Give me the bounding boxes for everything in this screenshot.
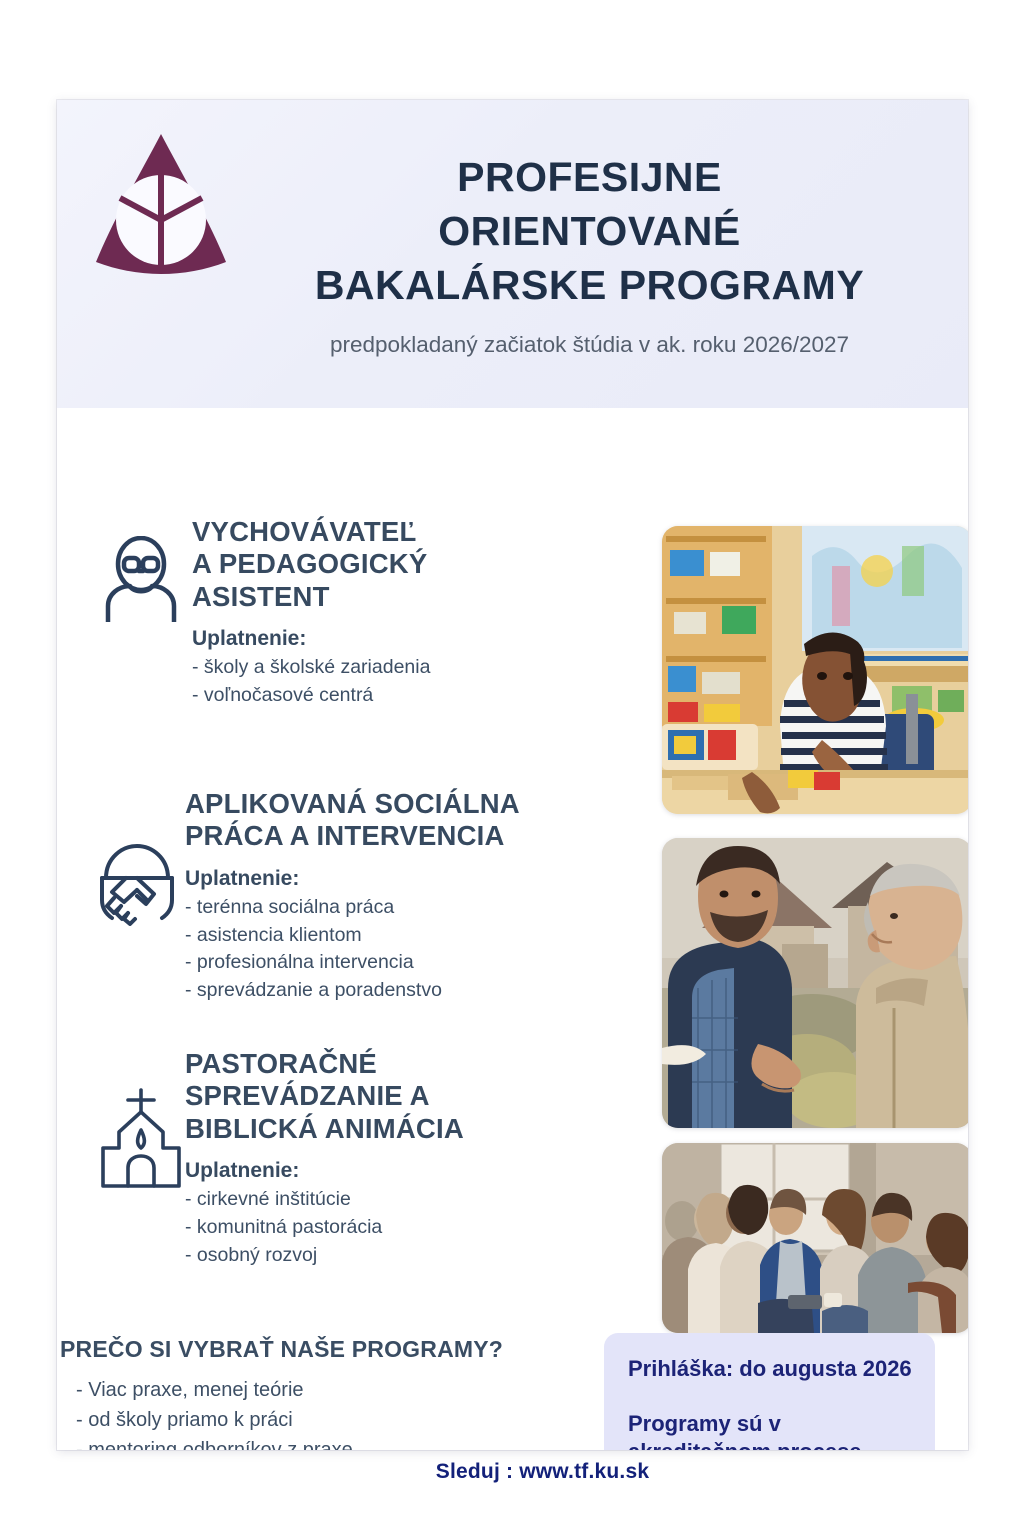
poster-card: PROFESIJNE ORIENTOVANÉ BAKALÁRSKE PROGRA… <box>57 100 968 1450</box>
list-item: - voľnočasové centrá <box>192 682 592 710</box>
title-line-3: BAKALÁRSKE PROGRAMY <box>227 258 952 312</box>
list-item: - komunitná pastorácia <box>185 1214 605 1242</box>
list-item: - mentoring odborníkov z praxe <box>76 1435 600 1450</box>
title-line-2: ORIENTOVANÉ <box>227 204 952 258</box>
tf-ku-leaf-logo <box>86 126 236 286</box>
list-item: - od školy priamo k práci <box>76 1405 600 1435</box>
handshake-icon <box>92 840 182 926</box>
list-item: - profesionálna intervencia <box>185 949 605 977</box>
person-with-glasses-icon <box>102 536 180 622</box>
church-icon <box>95 1086 187 1190</box>
application-deadline: Prihláška: do augusta 2026 <box>628 1355 911 1384</box>
list-item: - terénna sociálna práca <box>185 894 605 922</box>
poster-body: VYCHOVÁVATEĽ A PEDAGOGICKÝ ASISTENT Upla… <box>57 408 968 1450</box>
why-choose-block: PREČO SI VYBRAŤ NAŠE PROGRAMY? - Viac pr… <box>60 1336 600 1450</box>
accreditation-note: Programy sú v akreditačnom procese. <box>628 1410 911 1450</box>
uplatnenie-label: Uplatnenie: <box>185 867 605 891</box>
poster-footer: Sleduj : www.tf.ku.sk <box>57 1460 968 1484</box>
list-item: - školy a školské zariadenia <box>192 654 592 682</box>
list-item: - Viac praxe, menej teórie <box>76 1375 600 1405</box>
uplatnenie-list: - školy a školské zariadenia - voľnočaso… <box>192 654 592 709</box>
photo-child-classroom <box>662 526 968 814</box>
uplatnenie-list: - terénna sociálna práca - asistencia kl… <box>185 894 605 1005</box>
application-info-box: Prihláška: do augusta 2026 Programy sú v… <box>604 1333 935 1450</box>
website-link[interactable]: Sleduj : www.tf.ku.sk <box>436 1460 649 1484</box>
program-title: PASTORAČNÉ SPREVÁDZANIE A BIBLICKÁ ANIMÁ… <box>185 1048 605 1145</box>
uplatnenie-label: Uplatnenie: <box>185 1159 605 1183</box>
why-choose-list: - Viac praxe, menej teórie - od školy pr… <box>60 1375 600 1450</box>
list-item: - cirkevné inštitúcie <box>185 1186 605 1214</box>
photo-group-circle <box>662 1143 968 1333</box>
poster-title-block: PROFESIJNE ORIENTOVANÉ BAKALÁRSKE PROGRA… <box>227 150 952 358</box>
poster-header: PROFESIJNE ORIENTOVANÉ BAKALÁRSKE PROGRA… <box>57 100 968 408</box>
program-text-socialna-praca: APLIKOVANÁ SOCIÁLNA PRÁCA A INTERVENCIA … <box>185 788 605 1005</box>
list-item: - sprevádzanie a poradenstvo <box>185 977 605 1005</box>
list-item: - osobný rozvoj <box>185 1242 605 1270</box>
poster-subtitle: predpokladaný začiatok štúdia v ak. roku… <box>227 332 952 358</box>
title-line-1: PROFESIJNE <box>227 150 952 204</box>
why-choose-title: PREČO SI VYBRAŤ NAŠE PROGRAMY? <box>60 1336 600 1363</box>
uplatnenie-list: - cirkevné inštitúcie - komunitná pastor… <box>185 1186 605 1269</box>
list-item: - asistencia klientom <box>185 922 605 950</box>
program-title: APLIKOVANÁ SOCIÁLNA PRÁCA A INTERVENCIA <box>185 788 605 853</box>
photo-social-worker-senior <box>662 838 968 1128</box>
uplatnenie-label: Uplatnenie: <box>192 627 592 651</box>
program-text-pastoracne: PASTORAČNÉ SPREVÁDZANIE A BIBLICKÁ ANIMÁ… <box>185 1048 605 1269</box>
program-title: VYCHOVÁVATEĽ A PEDAGOGICKÝ ASISTENT <box>192 516 592 613</box>
program-text-vychovavatel: VYCHOVÁVATEĽ A PEDAGOGICKÝ ASISTENT Upla… <box>192 516 592 710</box>
